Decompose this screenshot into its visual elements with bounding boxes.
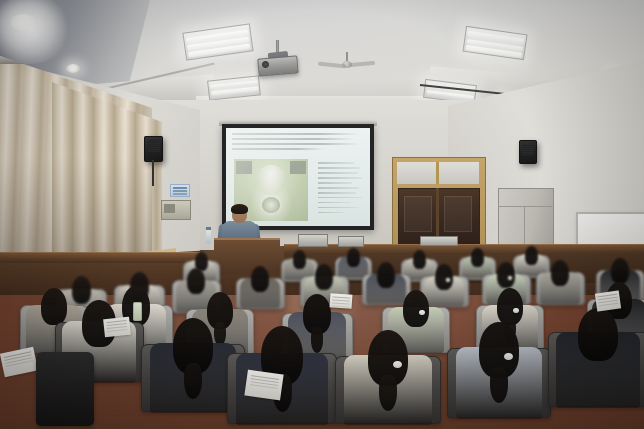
wall-speaker-left	[144, 136, 163, 162]
attendee-ponytail	[311, 327, 324, 353]
attendee-hair	[551, 260, 569, 286]
hair-clip	[508, 276, 512, 279]
attendee-hair	[403, 290, 429, 327]
hair-clip	[504, 353, 513, 360]
transom-mullion	[436, 162, 439, 184]
desk-equipment-box	[338, 236, 364, 247]
wall-speaker-right	[519, 140, 537, 164]
door-panel	[444, 196, 472, 232]
handout-paper	[103, 317, 131, 338]
electrical-panel-box	[161, 200, 191, 220]
slide-heading-text	[232, 133, 364, 155]
presenter-hair	[231, 204, 248, 214]
hair-clip	[446, 278, 450, 281]
hair-clip	[513, 308, 519, 313]
attendee-hair	[293, 250, 306, 269]
attendee-hair	[377, 262, 395, 288]
speaker-cable-left	[152, 160, 154, 186]
hair-clip	[419, 310, 425, 315]
downlight-2	[66, 64, 80, 73]
attendee-hair	[251, 266, 269, 292]
desk-equipment-box	[298, 234, 328, 247]
attendee-hair	[315, 264, 333, 290]
water-bottle	[133, 302, 142, 321]
door-panel	[404, 196, 432, 232]
handout-paper	[330, 293, 353, 309]
hair-clip	[393, 361, 402, 368]
handout-paper	[244, 370, 283, 401]
slide-photo-dome	[256, 165, 286, 195]
handout-paper	[595, 290, 621, 311]
attendee-hair	[187, 268, 205, 294]
attendee-hair	[347, 248, 360, 267]
projector-lens	[262, 61, 269, 68]
slide-photo-block	[290, 161, 306, 174]
wall-sign-placard	[170, 184, 190, 197]
water-bottle	[206, 230, 211, 244]
slide-photo-ring	[262, 197, 280, 213]
attendee-hair	[413, 250, 426, 269]
attendee-hair	[72, 276, 91, 304]
cabinet-seam	[498, 206, 552, 207]
attendee-hair	[41, 288, 67, 325]
attendee-hair	[578, 308, 618, 361]
attendee-hair	[611, 258, 629, 284]
slide-photo-block	[236, 161, 252, 174]
downlight-1	[10, 14, 36, 31]
attendee-hair	[497, 262, 515, 288]
slide-text-column	[318, 162, 364, 217]
front-desk	[0, 252, 200, 263]
attendee-hair	[435, 264, 453, 290]
attendee-hair	[525, 246, 538, 265]
backpack	[36, 352, 94, 426]
attendee-hair	[471, 248, 484, 267]
podium-desk	[214, 238, 280, 274]
desk-equipment-box	[420, 236, 458, 246]
lecture-hall-photo	[0, 0, 644, 429]
